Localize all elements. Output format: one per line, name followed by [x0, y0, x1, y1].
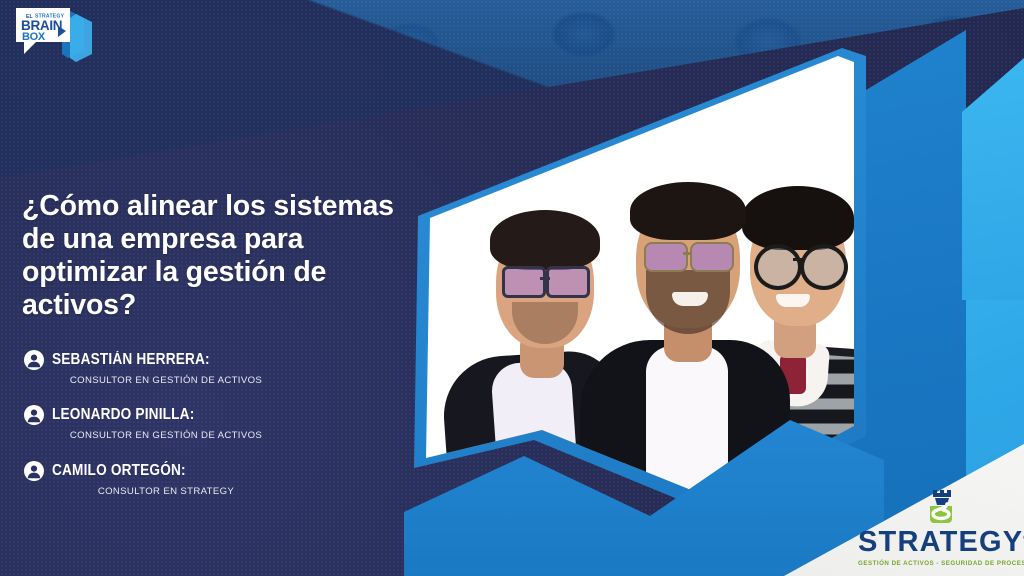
person-left-glasses-bridge: [540, 277, 550, 280]
brain-box-line4: BOX: [22, 31, 46, 43]
chess-rook-icon: [914, 486, 968, 526]
speaker-role: CONSULTOR EN GESTIÓN DE ACTIVOS: [32, 375, 300, 387]
page-title: ¿Cómo alinear los sistemas de una empres…: [22, 190, 422, 322]
person-left-glasses-right-lens: [546, 266, 590, 298]
person-icon: [24, 350, 44, 370]
person-right-glasses-right-lens: [800, 244, 848, 290]
person-right-glasses-bridge: [793, 258, 802, 261]
person-center-glasses-bridge: [683, 252, 692, 255]
person-center-hair: [630, 182, 746, 240]
strategy-logo: STRATEGY® GESTIÓN DE ACTIVOS - SEGURIDAD…: [858, 486, 1024, 572]
person-center-glasses-right-lens: [690, 242, 734, 272]
speakers-list: SEBASTIÁN HERRERA: CONSULTOR EN GESTIÓN …: [24, 350, 414, 516]
person-right-smile: [776, 294, 810, 307]
person-icon: [24, 405, 44, 425]
person-left-hair: [490, 210, 600, 270]
speaker-name: LEONARDO PINILLA:: [52, 406, 194, 424]
person-center-glasses-left-lens: [644, 242, 688, 272]
brain-box-logo: EL STRATEGY BRAIN BOX: [6, 4, 114, 66]
person-left-glasses-left-lens: [502, 266, 546, 298]
speaker-item-3: CAMILO ORTEGÓN: CONSULTOR EN STRATEGY: [24, 461, 414, 498]
speaker-name: SEBASTIÁN HERRERA:: [52, 351, 210, 369]
strategy-tagline: GESTIÓN DE ACTIVOS - SEGURIDAD DE PROCES…: [858, 560, 1024, 567]
person-center-smile: [672, 292, 708, 306]
speaker-item-1: SEBASTIÁN HERRERA: CONSULTOR EN GESTIÓN …: [24, 350, 414, 387]
person-right-hair: [742, 186, 854, 250]
speaker-role: CONSULTOR EN GESTIÓN DE ACTIVOS: [32, 430, 300, 442]
person-right-glasses-left-lens: [754, 244, 802, 290]
person-icon: [24, 461, 44, 481]
slide-canvas: EL STRATEGY BRAIN BOX ¿Cómo alinear los …: [0, 0, 1024, 576]
speaker-item-2: LEONARDO PINILLA: CONSULTOR EN GESTIÓN D…: [24, 405, 414, 442]
speaker-name: CAMILO ORTEGÓN:: [52, 462, 186, 480]
strategy-wordmark-text: STRATEGY: [858, 526, 1023, 558]
speaker-role: CONSULTOR EN STRATEGY: [32, 486, 300, 498]
strategy-wordmark: STRATEGY®: [858, 528, 1024, 557]
